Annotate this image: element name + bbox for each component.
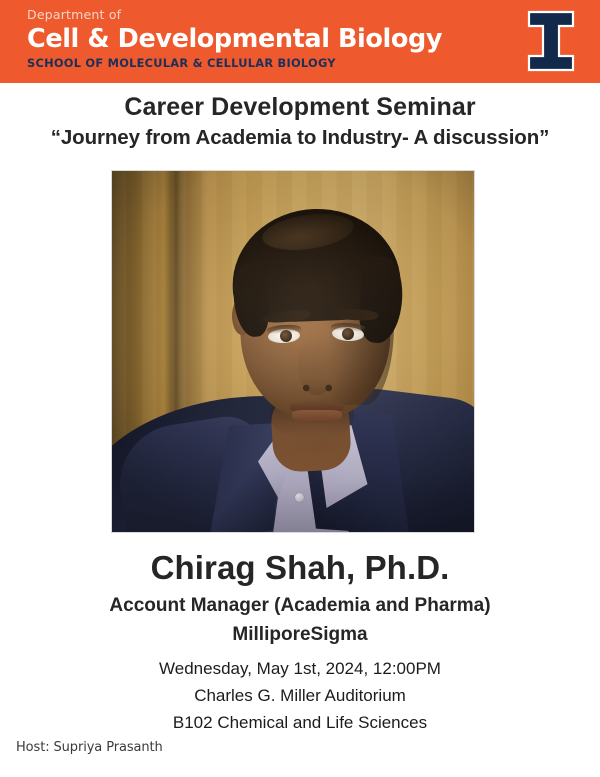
speaker-role: Account Manager (Academia and Pharma) xyxy=(0,593,600,619)
photo-vignette xyxy=(112,171,474,532)
department-name: Cell & Developmental Biology xyxy=(27,24,442,54)
event-details: Wednesday, May 1st, 2024, 12:00PM Charle… xyxy=(0,655,600,736)
page-title: Career Development Seminar xyxy=(0,92,600,122)
department-banner: Department of Cell & Developmental Biolo… xyxy=(0,0,600,83)
page-subtitle: “Journey from Academia to Industry- A di… xyxy=(0,125,600,151)
school-name: SCHOOL OF MOLECULAR & CELLULAR BIOLOGY xyxy=(27,56,442,71)
department-prefix: Department of xyxy=(27,7,442,23)
illinois-block-i-icon xyxy=(526,9,576,73)
event-room: B102 Chemical and Life Sciences xyxy=(0,709,600,736)
speaker-photo-inner xyxy=(112,171,474,532)
speaker-photo xyxy=(111,170,475,533)
host-line: Host: Supriya Prasanth xyxy=(16,740,163,755)
event-venue: Charles G. Miller Auditorium xyxy=(0,682,600,709)
title-group: Career Development Seminar “Journey from… xyxy=(0,92,600,151)
seminar-flyer: Department of Cell & Developmental Biolo… xyxy=(0,0,600,777)
banner-text-group: Department of Cell & Developmental Biolo… xyxy=(27,7,442,71)
speaker-name: Chirag Shah, Ph.D. xyxy=(0,548,600,588)
speaker-block: Chirag Shah, Ph.D. Account Manager (Acad… xyxy=(0,548,600,648)
speaker-organization: MilliporeSigma xyxy=(0,622,600,648)
event-datetime: Wednesday, May 1st, 2024, 12:00PM xyxy=(0,655,600,682)
